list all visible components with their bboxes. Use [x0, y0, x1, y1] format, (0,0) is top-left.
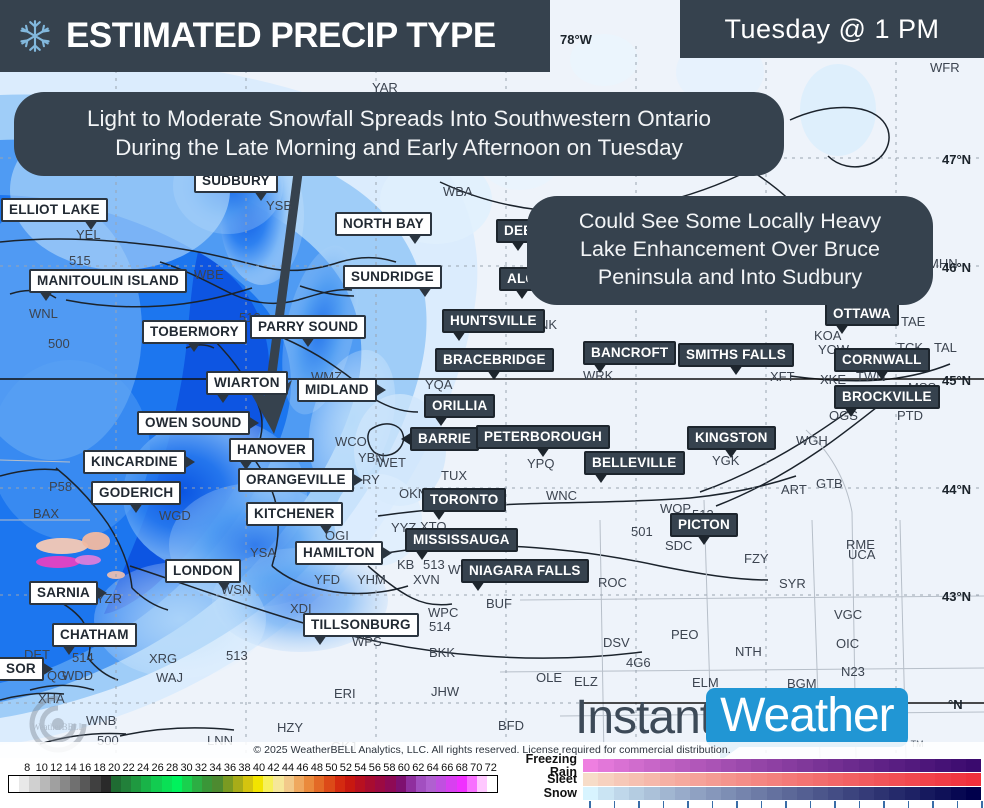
station-code: ART: [781, 482, 807, 497]
temperature-swatch: [457, 776, 467, 792]
station-code: XFT: [770, 369, 795, 384]
city-label-tail: [875, 370, 889, 380]
city-label-text: ORILLIA: [432, 398, 487, 413]
precip-swatch: [644, 759, 659, 772]
precip-axis-tick: [785, 801, 787, 808]
city-label-text: NORTH BAY: [343, 216, 424, 231]
station-code: WGD: [159, 508, 191, 523]
temperature-swatch: [202, 776, 212, 792]
temperature-swatch: [375, 776, 385, 792]
city-label-text: GODERICH: [99, 485, 173, 500]
city-label-text: LONDON: [173, 563, 233, 578]
temperature-tick: 64: [426, 762, 440, 774]
city-label-tail: [301, 337, 315, 347]
precip-swatch: [874, 773, 889, 786]
precip-swatch: [767, 759, 782, 772]
temperature-tick: 72: [484, 762, 498, 774]
city-label-text: BELLEVILLE: [592, 455, 677, 470]
precip-axis-tick: [712, 801, 714, 808]
city-label-mississauga[interactable]: MISSISSAUGA: [405, 528, 518, 552]
precip-swatch: [905, 759, 920, 772]
temperature-swatch: [314, 776, 324, 792]
instant-weather-logo: Instant Weather TM: [575, 688, 908, 747]
precip-swatch: [767, 787, 782, 800]
precip-axis-tick: [761, 801, 763, 808]
precip-swatch: [706, 773, 721, 786]
precip-swatch: [598, 759, 613, 772]
temperature-tick: 62: [411, 762, 425, 774]
temperature-swatch: [253, 776, 263, 792]
temperature-swatch: [9, 776, 19, 792]
city-label-tail: [487, 370, 501, 380]
precip-axis-tick: [859, 801, 861, 808]
station-code: 515: [69, 253, 91, 268]
temperature-tick: 24: [136, 762, 150, 774]
temperature-swatch: [121, 776, 131, 792]
copyright-notice: © 2025 WeatherBELL Analytics, LLC. All r…: [0, 742, 984, 758]
city-label-smiths-falls[interactable]: SMITHS FALLS: [678, 343, 794, 367]
temperature-swatch: [151, 776, 161, 792]
city-label-kitchener[interactable]: KITCHENER: [246, 502, 343, 526]
station-code: WPC: [428, 605, 458, 620]
station-code: WNC: [546, 488, 577, 503]
callout-2-line-2: Lake Enhancement Over Bruce: [551, 236, 909, 264]
station-code: VGC: [834, 607, 862, 622]
city-label-text: MIDLAND: [305, 382, 369, 397]
temperature-swatch: [192, 776, 202, 792]
temperature-swatch: [182, 776, 192, 792]
temperature-swatch: [335, 776, 345, 792]
station-code: 514: [429, 619, 451, 634]
city-label-tail: [39, 291, 53, 301]
temperature-swatch: [284, 776, 294, 792]
precip-swatch: [813, 787, 828, 800]
station-code: ROC: [598, 575, 627, 590]
temperature-tick: 46: [295, 762, 309, 774]
station-code: WCO: [335, 434, 367, 449]
city-label-bracebridge[interactable]: BRACEBRIDGE: [435, 348, 554, 372]
precip-swatch: [583, 773, 598, 786]
precip-swatch: [828, 787, 843, 800]
temperature-swatch: [396, 776, 406, 792]
city-label-tail: [408, 234, 422, 244]
precip-swatch: [736, 787, 751, 800]
station-code: YSA: [250, 545, 276, 560]
precip-swatch: [828, 759, 843, 772]
page-title: ESTIMATED PRECIP TYPE: [66, 16, 496, 56]
city-label-text: BRACEBRIDGE: [443, 352, 546, 367]
precip-swatch: [797, 787, 812, 800]
city-label-tail: [62, 645, 76, 655]
city-label-text: ELLIOT LAKE: [9, 202, 100, 217]
temperature-swatch: [223, 776, 233, 792]
precip-swatch: [782, 759, 797, 772]
city-label-tail: [511, 241, 525, 251]
city-label-niagara-falls[interactable]: NIAGARA FALLS: [461, 559, 589, 583]
temperature-tick: 66: [440, 762, 454, 774]
city-label-text: BARRIE: [418, 431, 471, 446]
temperature-tick: 36: [223, 762, 237, 774]
station-code: BUF: [486, 596, 512, 611]
temperature-swatch: [19, 776, 29, 792]
city-label-kingston[interactable]: KINGSTON: [687, 426, 776, 450]
city-label-text: KINCARDINE: [91, 454, 178, 469]
precip-swatch: [920, 773, 935, 786]
precip-swatch: [935, 787, 950, 800]
precip-swatch: [859, 773, 874, 786]
temperature-tick: 22: [121, 762, 135, 774]
city-label-elliot-lake[interactable]: ELLIOT LAKE: [1, 198, 108, 222]
station-code: YHM: [357, 572, 386, 587]
precip-swatch: [843, 773, 858, 786]
precip-row-freezing-rain: Freezing Rain: [505, 759, 981, 772]
station-code: TAE: [901, 314, 925, 329]
temperature-swatch: [40, 776, 50, 792]
station-code: YSB: [266, 198, 292, 213]
precip-axis-tick: [736, 801, 738, 808]
city-label-parry-sound[interactable]: PARRY SOUND: [250, 315, 366, 339]
temperature-swatch: [304, 776, 314, 792]
temperature-swatch: [29, 776, 39, 792]
temperature-swatch: [172, 776, 182, 792]
station-code: YQA: [425, 377, 452, 392]
temperature-swatch: [467, 776, 477, 792]
city-label-wiarton[interactable]: WIARTON: [206, 371, 288, 395]
precip-swatch: [935, 759, 950, 772]
city-label-barrie[interactable]: BARRIE: [410, 427, 479, 451]
city-label-text: KITCHENER: [254, 506, 335, 521]
temperature-swatch: [365, 776, 375, 792]
precip-swatch: [951, 759, 966, 772]
temperature-tick: 10: [34, 762, 48, 774]
precip-swatch: [690, 787, 705, 800]
precip-swatch: [736, 773, 751, 786]
precip-swatch: [813, 759, 828, 772]
station-code: WBE: [194, 267, 224, 282]
city-label-tail: [42, 662, 53, 676]
city-label-text: PETERBOROUGH: [484, 429, 602, 444]
precip-label-sleet: Sleet: [505, 773, 583, 786]
city-label-text: MANITOULIN ISLAND: [37, 273, 179, 288]
annotation-callout-primary: Light to Moderate Snowfall Spreads Into …: [14, 92, 784, 176]
city-label-tail: [697, 535, 711, 545]
city-label-tail: [432, 510, 446, 520]
city-label-tail: [471, 581, 485, 591]
temperature-swatch: [233, 776, 243, 792]
precip-axis-tick: [957, 801, 959, 808]
precip-swatch: [614, 773, 629, 786]
precip-swatch: [889, 773, 904, 786]
city-label-tail: [594, 473, 608, 483]
station-code: SDC: [665, 538, 692, 553]
temperature-tick: 54: [353, 762, 367, 774]
city-label-goderich[interactable]: GODERICH: [91, 481, 181, 505]
city-label-text: BANCROFT: [591, 345, 668, 360]
city-label-sor[interactable]: SOR: [0, 657, 44, 681]
station-code: N23: [841, 664, 865, 679]
station-code: KB: [397, 557, 414, 572]
precip-swatch: [889, 759, 904, 772]
station-code: FZY: [744, 551, 769, 566]
precip-bar-sleet: [583, 773, 981, 786]
precip-swatch: [675, 787, 690, 800]
precip-swatch: [690, 759, 705, 772]
station-code: WDD: [62, 668, 93, 683]
city-label-north-bay[interactable]: NORTH BAY: [335, 212, 432, 236]
city-label-orangeville[interactable]: ORANGEVILLE: [238, 468, 354, 492]
callout-1-line-2: During the Late Morning and Early Aftern…: [38, 133, 760, 162]
city-label-kincardine[interactable]: KINCARDINE: [83, 450, 186, 474]
temperature-tick: 18: [92, 762, 106, 774]
city-label-text: MISSISSAUGA: [413, 532, 510, 547]
precip-swatch: [767, 773, 782, 786]
city-label-text: TOBERMORY: [150, 324, 239, 339]
precip-axis-ticks: [589, 801, 981, 808]
precip-swatch: [583, 787, 598, 800]
city-label-tail: [434, 416, 448, 426]
precip-swatch: [859, 787, 874, 800]
precip-swatch: [920, 787, 935, 800]
station-code: 513: [226, 648, 248, 663]
precip-row-sleet: Sleet: [505, 773, 981, 786]
city-label-text: HUNTSVILLE: [450, 313, 537, 328]
precip-axis-tick: [883, 801, 885, 808]
station-code: TUX: [441, 468, 467, 483]
precip-swatch: [644, 773, 659, 786]
callout-2-line-3: Peninsula and Into Sudbury: [551, 264, 909, 292]
precip-swatch: [889, 787, 904, 800]
city-label-text: HANOVER: [237, 442, 306, 457]
city-label-tail: [401, 432, 412, 446]
station-code: XRG: [149, 651, 177, 666]
logo-instant-text: Instant: [575, 694, 712, 742]
temperature-tick: 60: [397, 762, 411, 774]
city-label-tail: [84, 220, 98, 230]
station-code: 4G6: [626, 655, 651, 670]
city-label-tail: [375, 383, 386, 397]
city-label-text: CHATHAM: [60, 627, 129, 642]
station-code: DSV: [603, 635, 630, 650]
station-code: BAX: [33, 506, 59, 521]
temperature-swatch: [141, 776, 151, 792]
precip-swatch: [660, 759, 675, 772]
city-label-text: KINGSTON: [695, 430, 768, 445]
city-label-tail: [452, 331, 466, 341]
city-label-text: ORANGEVILLE: [246, 472, 346, 487]
city-label-tail: [415, 550, 429, 560]
city-label-tail: [418, 287, 432, 297]
precip-swatch: [721, 759, 736, 772]
station-code: UCA: [848, 547, 875, 562]
station-code: ERI: [334, 686, 356, 701]
city-label-picton[interactable]: PICTON: [670, 513, 738, 537]
city-label-orillia[interactable]: ORILLIA: [424, 394, 495, 418]
station-code: BFD: [498, 718, 524, 733]
temperature-swatch: [263, 776, 273, 792]
temperature-tick: 12: [49, 762, 63, 774]
precip-swatch: [782, 787, 797, 800]
city-label-toronto[interactable]: TORONTO: [422, 488, 506, 512]
precip-swatch: [874, 759, 889, 772]
city-label-tail: [536, 447, 550, 457]
precip-swatch: [859, 759, 874, 772]
precip-swatch: [660, 787, 675, 800]
precip-axis-tick: [663, 801, 665, 808]
temperature-swatch: [131, 776, 141, 792]
city-label-london[interactable]: LONDON: [165, 559, 241, 583]
station-code: YPQ: [527, 456, 554, 471]
coordinate-label: 78°W: [560, 32, 592, 47]
precip-swatch: [951, 787, 966, 800]
city-label-hamilton[interactable]: HAMILTON: [295, 541, 383, 565]
station-code: WET: [377, 455, 406, 470]
temperature-swatch: [162, 776, 172, 792]
snowflake-icon: [18, 19, 52, 53]
precip-axis-tick: [834, 801, 836, 808]
city-label-chatham[interactable]: CHATHAM: [52, 623, 137, 647]
city-label-huntsville[interactable]: HUNTSVILLE: [442, 309, 545, 333]
precip-swatch: [721, 787, 736, 800]
temperature-swatch: [406, 776, 416, 792]
city-label-text: WIARTON: [214, 375, 280, 390]
temperature-swatch: [345, 776, 355, 792]
city-label-manitoulin-island[interactable]: MANITOULIN ISLAND: [29, 269, 187, 293]
city-label-cornwall[interactable]: CORNWALL: [834, 348, 930, 372]
temperature-tick: 8: [20, 762, 34, 774]
temperature-swatch: [487, 776, 497, 792]
precip-swatch: [751, 759, 766, 772]
precip-axis-tick: [614, 801, 616, 808]
city-label-belleville[interactable]: BELLEVILLE: [584, 451, 685, 475]
precip-swatch: [843, 787, 858, 800]
temperature-swatch: [273, 776, 283, 792]
precip-swatch: [675, 759, 690, 772]
city-label-tail: [184, 455, 195, 469]
station-code: YFD: [314, 572, 340, 587]
precip-swatch: [598, 787, 613, 800]
station-code: SYR: [779, 576, 806, 591]
precip-swatch: [751, 787, 766, 800]
city-label-text: SOR: [6, 661, 36, 676]
precip-axis-tick: [932, 801, 934, 808]
precip-axis-tick: [908, 801, 910, 808]
coordinate-label: 47°N: [942, 152, 971, 167]
station-code: P58: [49, 479, 72, 494]
logo-bubble: Weather TM: [706, 688, 908, 747]
city-label-text: SARNIA: [37, 585, 90, 600]
precip-swatch: [721, 773, 736, 786]
title-bar: ESTIMATED PRECIP TYPE: [0, 0, 550, 72]
temperature-swatch: [243, 776, 253, 792]
city-label-text: NIAGARA FALLS: [469, 563, 581, 578]
city-label-owen-sound[interactable]: OWEN SOUND: [137, 411, 250, 435]
temperature-swatch: [294, 776, 304, 792]
city-label-sundridge[interactable]: SUNDRIDGE: [343, 265, 442, 289]
precip-swatch: [797, 773, 812, 786]
city-label-sarnia[interactable]: SARNIA: [29, 581, 98, 605]
temperature-tick: 28: [165, 762, 179, 774]
station-code: JHW: [431, 684, 459, 699]
station-code: BKK: [429, 645, 455, 660]
temperature-tick: 58: [382, 762, 396, 774]
temperature-tick: 32: [194, 762, 208, 774]
city-label-tail: [835, 324, 849, 334]
precip-swatch: [813, 773, 828, 786]
temperature-tick: 14: [63, 762, 77, 774]
station-code: WAJ: [156, 670, 183, 685]
city-label-peterborough[interactable]: PETERBOROUGH: [476, 425, 610, 449]
temperature-swatch: [212, 776, 222, 792]
station-code: ELZ: [574, 674, 598, 689]
callout-2-line-1: Could See Some Locally Heavy: [551, 208, 909, 236]
station-code: HZY: [277, 720, 303, 735]
precip-swatch: [675, 773, 690, 786]
city-label-tail: [96, 586, 107, 600]
precip-swatch: [966, 787, 981, 800]
station-code: OLE: [536, 670, 562, 685]
city-label-tail: [515, 289, 529, 299]
temperature-tick: 70: [469, 762, 483, 774]
temperature-tick: 50: [324, 762, 338, 774]
precip-bar-freezing-rain: [583, 759, 981, 772]
coordinate-label: 44°N: [942, 482, 971, 497]
city-label-text: OTTAWA: [833, 306, 891, 321]
temperature-swatch: [385, 776, 395, 792]
precip-type-scales: Freezing Rain Sleet Snow: [505, 759, 981, 808]
city-label-hanover[interactable]: HANOVER: [229, 438, 314, 462]
city-label-tail: [129, 503, 143, 513]
logo-weather-text: Weather: [720, 689, 894, 742]
temperature-swatch: [80, 776, 90, 792]
legend-panel: 8101214161820222426283032343638404244464…: [0, 758, 984, 808]
city-label-text: BROCKVILLE: [842, 389, 932, 404]
precip-swatch: [706, 787, 721, 800]
city-label-text: PICTON: [678, 517, 730, 532]
precip-label-snow: Snow: [505, 787, 583, 800]
temperature-tick: 38: [237, 762, 251, 774]
coordinate-label: 46°N: [942, 260, 971, 275]
city-label-bancroft[interactable]: BANCROFT: [583, 341, 676, 365]
city-label-tail: [216, 393, 230, 403]
city-label-ottawa[interactable]: OTTAWA: [825, 302, 899, 326]
precip-bar-snow: [583, 787, 981, 800]
precip-swatch: [782, 773, 797, 786]
precip-swatch: [966, 759, 981, 772]
city-label-midland[interactable]: MIDLAND: [297, 378, 377, 402]
city-label-brockville[interactable]: BROCKVILLE: [834, 385, 940, 409]
temperature-swatch: [90, 776, 100, 792]
temperature-tick: 34: [208, 762, 222, 774]
city-label-tillsonburg[interactable]: TILLSONBURG: [303, 613, 419, 637]
temperature-swatch: [477, 776, 487, 792]
temperature-swatch: [436, 776, 446, 792]
temperature-tick: 42: [266, 762, 280, 774]
forecast-timestamp: Tuesday @ 1 PM: [725, 14, 940, 45]
city-label-tail: [187, 342, 201, 352]
coordinate-label: °N: [948, 697, 963, 712]
precip-swatch: [951, 773, 966, 786]
precip-swatch: [629, 773, 644, 786]
city-label-tobermory[interactable]: TOBERMORY: [142, 320, 247, 344]
city-label-text: OWEN SOUND: [145, 415, 242, 430]
temperature-swatch: [446, 776, 456, 792]
station-code: PEO: [671, 627, 698, 642]
temperature-tick: 52: [339, 762, 353, 774]
temperature-swatch: [426, 776, 436, 792]
station-code: XVN: [413, 572, 440, 587]
precip-swatch: [920, 759, 935, 772]
city-label-text: TORONTO: [430, 492, 498, 507]
